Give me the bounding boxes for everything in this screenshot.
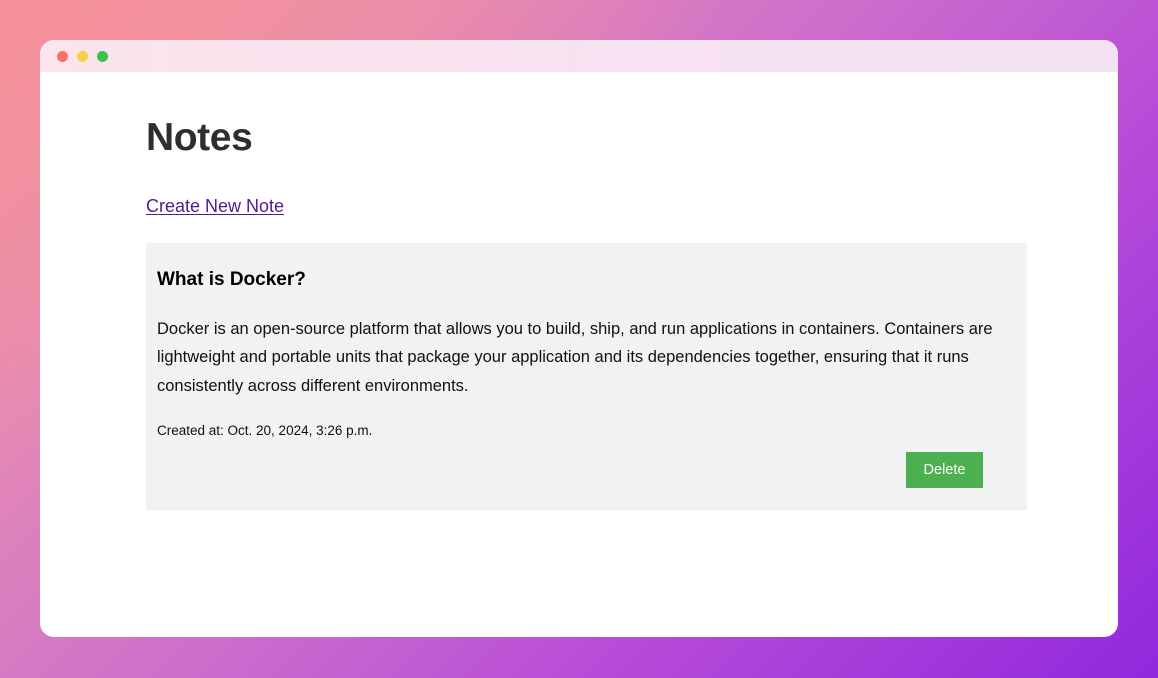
- close-window-button[interactable]: [57, 51, 68, 62]
- browser-window: Notes Create New Note What is Docker? Do…: [40, 40, 1118, 637]
- note-title: What is Docker?: [157, 269, 995, 291]
- note-actions: Delete: [157, 452, 995, 488]
- maximize-window-button[interactable]: [97, 51, 108, 62]
- delete-note-button[interactable]: Delete: [906, 452, 983, 488]
- page-title: Notes: [146, 118, 1118, 159]
- page-content: Notes Create New Note What is Docker? Do…: [40, 72, 1118, 637]
- window-titlebar: [40, 40, 1118, 72]
- note-created-at: Created at: Oct. 20, 2024, 3:26 p.m.: [157, 423, 995, 438]
- create-new-note-link[interactable]: Create New Note: [146, 196, 284, 217]
- note-body-text: Docker is an open-source platform that a…: [157, 315, 995, 401]
- minimize-window-button[interactable]: [77, 51, 88, 62]
- note-card: What is Docker? Docker is an open-source…: [146, 243, 1027, 511]
